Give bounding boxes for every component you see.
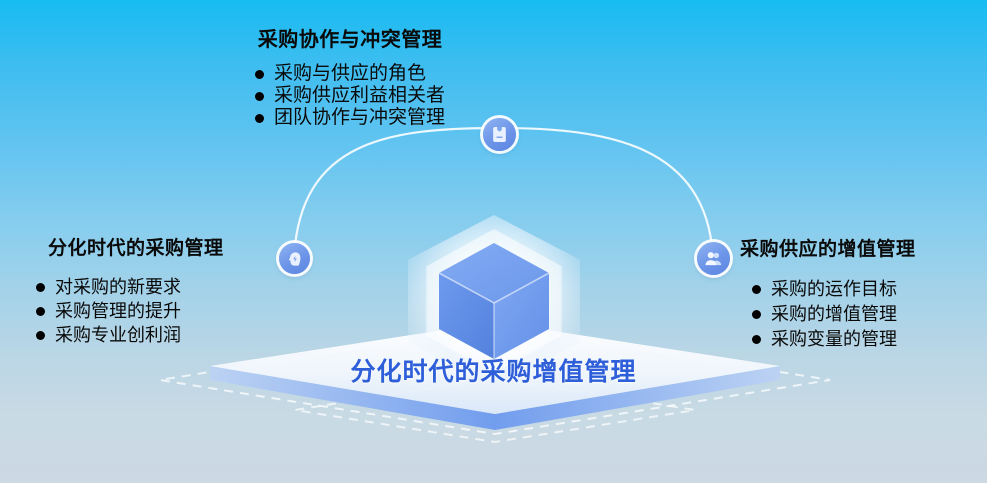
list-item: 对采购的新要求 <box>36 275 290 299</box>
list-item: 采购专业创利润 <box>36 323 290 347</box>
bullet-dot-icon <box>255 114 264 123</box>
list-item: 采购管理的提升 <box>36 299 290 323</box>
list-item: 团队协作与冲突管理 <box>255 107 445 129</box>
list-item: 采购变量的管理 <box>752 327 987 352</box>
center-title: 分化时代的采购增值管理 <box>0 352 987 388</box>
list-item-label: 采购专业创利润 <box>55 323 181 347</box>
node-top: 采购协作与冲突管理 采购与供应的角色 采购供应利益相关者 团队协作与冲突管理 <box>180 26 520 129</box>
bullet-dot-icon <box>255 92 264 101</box>
node-right-heading: 采购供应的增值管理 <box>740 236 987 264</box>
infographic-slide: 采购协作与冲突管理 采购与供应的角色 采购供应利益相关者 团队协作与冲突管理 分… <box>0 0 987 483</box>
list-item-label: 采购变量的管理 <box>771 327 897 352</box>
list-item-label: 采购的运作目标 <box>771 277 897 302</box>
users-group-icon[interactable] <box>697 242 730 275</box>
bullet-dot-icon <box>36 307 45 316</box>
bullet-dot-icon <box>36 283 45 292</box>
list-item-label: 采购的增值管理 <box>771 302 897 327</box>
bullet-dot-icon <box>752 335 761 344</box>
node-top-heading: 采购协作与冲突管理 <box>180 26 520 54</box>
node-left-bullets: 对采购的新要求 采购管理的提升 采购专业创利润 <box>10 275 290 347</box>
node-left: 分化时代的采购管理 对采购的新要求 采购管理的提升 采购专业创利润 <box>10 235 290 347</box>
node-top-bullets: 采购与供应的角色 采购供应利益相关者 团队协作与冲突管理 <box>255 63 445 129</box>
bullet-dot-icon <box>255 70 264 79</box>
list-item-label: 对采购的新要求 <box>55 275 181 299</box>
node-right-bullets: 采购的运作目标 采购的增值管理 采购变量的管理 <box>740 277 987 352</box>
list-item-label: 采购管理的提升 <box>55 299 181 323</box>
list-item-label: 团队协作与冲突管理 <box>274 107 445 129</box>
node-left-heading: 分化时代的采购管理 <box>10 235 290 263</box>
list-item-label: 采购供应利益相关者 <box>274 85 445 107</box>
bullet-dot-icon <box>752 285 761 294</box>
list-item: 采购与供应的角色 <box>255 63 445 85</box>
node-right: 采购供应的增值管理 采购的运作目标 采购的增值管理 采购变量的管理 <box>740 236 987 352</box>
list-item-label: 采购与供应的角色 <box>274 63 426 85</box>
isometric-cube-icon <box>436 241 552 361</box>
bullet-dot-icon <box>752 310 761 319</box>
list-item: 采购的运作目标 <box>752 277 987 302</box>
bullet-dot-icon <box>36 331 45 340</box>
list-item: 采购的增值管理 <box>752 302 987 327</box>
list-item: 采购供应利益相关者 <box>255 85 445 107</box>
